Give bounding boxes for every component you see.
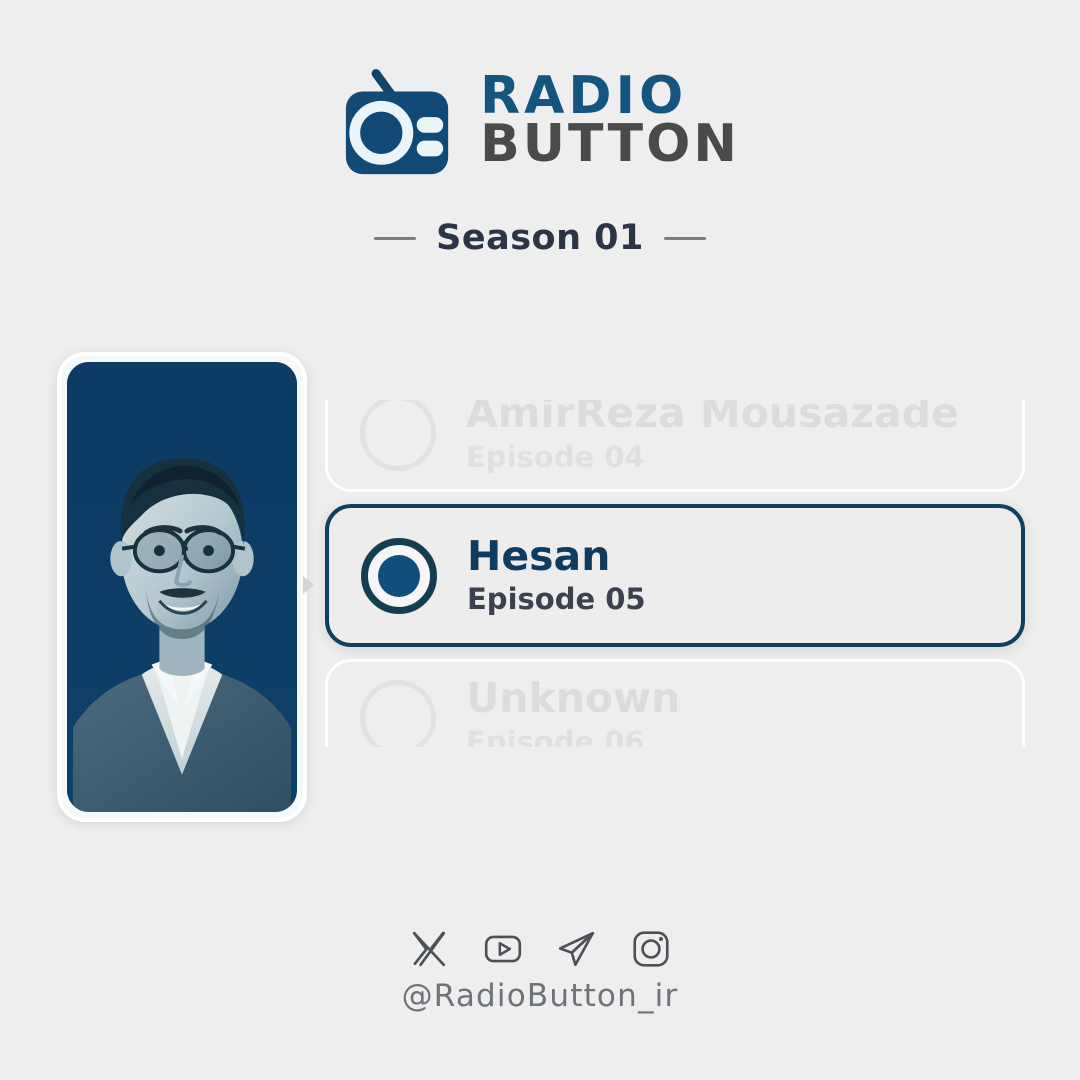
telegram-icon [556, 928, 598, 970]
social-handle: @RadioButton_ir [0, 978, 1080, 1014]
poster-canvas: RADIO BUTTON Season 01 [0, 0, 1080, 1080]
brand-logo: RADIO BUTTON [0, 62, 1080, 180]
photo-pointer-arrow [303, 576, 314, 594]
episode-list: AmirReza Mousazade Episode 04 Hesan Epis… [325, 374, 1025, 777]
social-link-telegram[interactable] [556, 928, 598, 970]
x-twitter-icon [408, 928, 450, 970]
episode-card-selected[interactable]: Hesan Episode 05 [325, 504, 1025, 647]
episode-card-text: Unknown Episode 06 [466, 676, 680, 759]
social-link-x[interactable] [408, 928, 450, 970]
season-dash-left [374, 237, 416, 240]
season-dash-right [664, 237, 706, 240]
episode-name: AmirReza Mousazade [466, 391, 959, 435]
social-links [0, 928, 1080, 970]
youtube-icon [482, 928, 524, 970]
guest-photo-frame [57, 352, 307, 822]
episode-card-next[interactable]: Unknown Episode 06 [325, 659, 1025, 777]
radio-button-icon[interactable] [360, 395, 436, 471]
wordmark-button: BUTTON [480, 121, 740, 169]
instagram-icon [630, 928, 672, 970]
episode-number: Episode 04 [466, 440, 959, 475]
episode-name: Unknown [466, 676, 680, 720]
episode-number: Episode 05 [467, 582, 646, 617]
season-label: Season 01 [436, 218, 644, 258]
radio-button-selected-icon[interactable] [361, 538, 437, 614]
social-link-youtube[interactable] [482, 928, 524, 970]
radio-icon [340, 62, 458, 180]
episode-card-previous[interactable]: AmirReza Mousazade Episode 04 [325, 374, 1025, 492]
guest-photo [67, 362, 297, 812]
episode-number: Episode 06 [466, 725, 680, 760]
season-banner: Season 01 [0, 218, 1080, 258]
social-link-instagram[interactable] [630, 928, 672, 970]
radio-button-icon[interactable] [360, 680, 436, 756]
episode-card-text: AmirReza Mousazade Episode 04 [466, 391, 959, 474]
episode-card-text: Hesan Episode 05 [467, 534, 646, 617]
wordmark: RADIO BUTTON [480, 73, 740, 169]
episode-name: Hesan [467, 534, 646, 578]
